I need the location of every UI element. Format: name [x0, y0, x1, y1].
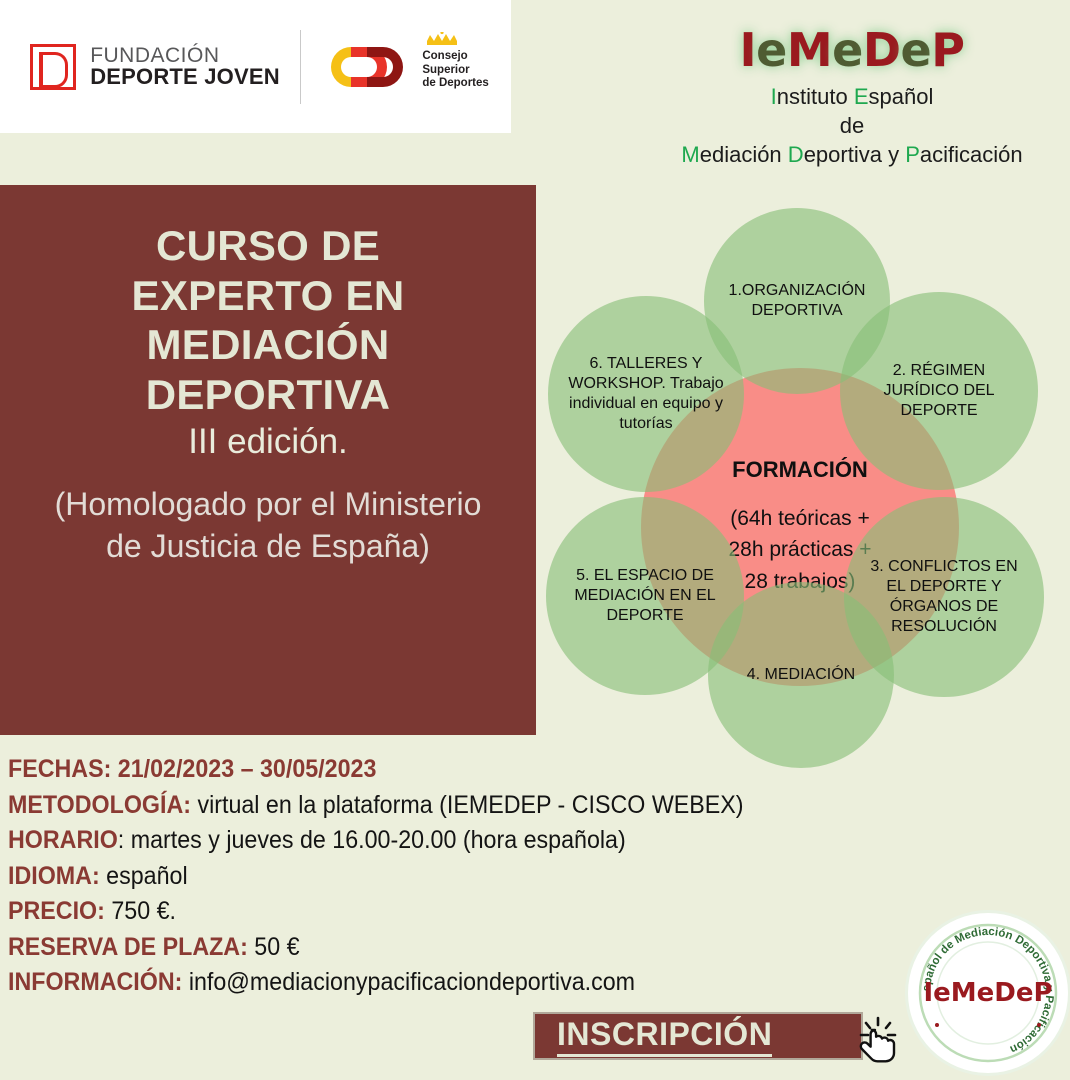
fundacion-deporte-joven-wordmark: FUNDACIÓN DEPORTE JOVEN: [90, 45, 280, 88]
iemedep-subtitle-line1: Instituto Español: [652, 82, 1052, 111]
course-title-panel: CURSO DE EXPERTO EN MEDIACIÓN DEPORTIVA …: [0, 185, 536, 735]
course-details-list: FECHAS: 21/02/2023 – 30/05/2023 METODOLO…: [8, 752, 908, 1001]
csd-line1: Consejo: [422, 50, 488, 64]
fundacion-deporte-joven-logo: FUNDACIÓN DEPORTE JOVEN: [30, 44, 280, 90]
detail-row-reserva: RESERVA DE PLAZA: 50 €: [8, 930, 845, 966]
detail-row-fechas: FECHAS: 21/02/2023 – 30/05/2023: [8, 752, 845, 788]
detail-label-horario: HORARIO: [8, 826, 118, 854]
detail-value-informacion: info@mediacionypacificaciondeportiva.com: [182, 968, 635, 996]
diagram-petal-5: 5. EL ESPACIO DE MEDIACIÓN EN EL DEPORTE: [546, 497, 744, 695]
detail-label-idioma: IDIOMA:: [8, 862, 100, 890]
detail-value-idioma: español: [100, 862, 188, 890]
inscripcion-button[interactable]: INSCRIPCIÓN: [533, 1012, 863, 1060]
wordmark-char-0: I: [740, 23, 757, 77]
diagram-petal-2: 2. RÉGIMEN JURÍDICO DEL DEPORTE: [840, 292, 1038, 490]
detail-value-precio: 750 €.: [105, 897, 176, 925]
course-edition: III edición.: [42, 421, 494, 463]
sub3-eportiva: eportiva y: [804, 142, 906, 167]
csd-swirl-icon: [321, 41, 413, 93]
title-line-1: CURSO DE: [42, 221, 494, 271]
iemedep-round-seal: Instituto Español de Mediación Deportiva…: [908, 913, 1068, 1073]
sub1-spanol: spañol: [869, 84, 934, 109]
sub3-ediacion: ediación: [700, 142, 788, 167]
petal-5-label: 5. EL ESPACIO DE MEDIACIÓN EN EL DEPORTE: [562, 566, 728, 626]
formacion-flower-diagram: FORMACIÓN (64h teóricas + 28h prácticas …: [536, 190, 1070, 770]
detail-row-horario: HORARIO: martes y jueves de 16.00-20.00 …: [8, 823, 845, 859]
petal-2-label: 2. RÉGIMEN JURÍDICO DEL DEPORTE: [858, 361, 1020, 421]
detail-value-fechas: 21/02/2023 – 30/05/2023: [111, 755, 376, 783]
title-line-4: DEPORTIVA: [42, 370, 494, 420]
sub1-nstituto: nstituto: [777, 84, 854, 109]
sub3-d: D: [788, 142, 804, 167]
detail-label-precio: PRECIO:: [8, 897, 105, 925]
page-title: CURSO DE EXPERTO EN MEDIACIÓN DEPORTIVA: [42, 221, 494, 419]
petal-4-label: 4. MEDIACIÓN: [722, 665, 880, 685]
crown-icon: [425, 32, 459, 48]
sub3-m: M: [681, 142, 699, 167]
petal-6-label: 6. TALLERES Y WORKSHOP. Trabajo individu…: [562, 354, 730, 435]
diagram-core-title: FORMACIÓN: [732, 457, 868, 483]
pointing-hand-click-icon: [851, 1016, 907, 1064]
detail-row-precio: PRECIO: 750 €.: [8, 894, 845, 930]
fundacion-line1: FUNDACIÓN: [90, 45, 280, 66]
wordmark-char-1: e: [756, 23, 787, 77]
iemedep-wordmark: IeMeDeP: [652, 26, 1052, 74]
wordmark-char-6: P: [931, 23, 964, 77]
wordmark-char-3: e: [832, 23, 863, 77]
course-accreditation-note: (Homologado por el Ministerio de Justici…: [42, 483, 494, 567]
csd-line3: de Deportes: [422, 77, 488, 91]
detail-row-idioma: IDIOMA: español: [8, 859, 845, 895]
detail-value-horario: : martes y jueves de 16.00-20.00 (hora e…: [118, 826, 626, 854]
detail-label-metodologia: METODOLOGÍA:: [8, 791, 191, 819]
sub3-p: P: [905, 142, 920, 167]
fundacion-line2: DEPORTE JOVEN: [90, 66, 280, 88]
detail-label-informacion: INFORMACIÓN:: [8, 968, 182, 996]
sponsor-logo-bar: FUNDACIÓN DEPORTE JOVEN Consejo Superior…: [0, 0, 511, 133]
wordmark-char-5: e: [901, 23, 932, 77]
iemedep-subtitle: Instituto Español de Mediación Deportiva…: [652, 82, 1052, 169]
iemedep-subtitle-line2: de: [652, 111, 1052, 140]
iemedep-subtitle-line3: Mediación Deportiva y Pacificación: [652, 140, 1052, 169]
csd-line2: Superior: [422, 64, 488, 78]
csd-wordmark: Consejo Superior de Deportes: [422, 42, 488, 91]
detail-value-reserva: 50 €: [248, 933, 300, 961]
sub1-e: E: [854, 84, 869, 109]
detail-row-informacion: INFORMACIÓN: info@mediacionypacificacion…: [8, 965, 845, 1001]
seal-center-wordmark: IeMeDeP: [923, 978, 1052, 1008]
wordmark-char-2: M: [787, 23, 832, 77]
title-line-3: MEDIACIÓN: [42, 320, 494, 370]
petal-1-label: 1.ORGANIZACIÓN DEPORTIVA: [718, 281, 876, 321]
detail-label-reserva: RESERVA DE PLAZA:: [8, 933, 248, 961]
diagram-petal-6: 6. TALLERES Y WORKSHOP. Trabajo individu…: [548, 296, 744, 492]
title-line-2: EXPERTO EN: [42, 271, 494, 321]
detail-label-fechas: FECHAS:: [8, 755, 111, 783]
consejo-superior-deportes-logo: Consejo Superior de Deportes: [321, 41, 488, 93]
detail-row-metodologia: METODOLOGÍA: virtual en la plataforma (I…: [8, 788, 845, 824]
inscripcion-cta[interactable]: INSCRIPCIÓN: [533, 1012, 863, 1060]
petal-3-label: 3. CONFLICTOS EN EL DEPORTE Y ÓRGANOS DE…: [862, 557, 1026, 638]
inscripcion-button-label: INSCRIPCIÓN: [557, 1016, 772, 1057]
wordmark-char-4: D: [863, 23, 901, 77]
fundacion-deporte-joven-mark-icon: [30, 44, 76, 90]
logo-divider: [300, 30, 302, 104]
iemedep-brand-header: IeMeDeP Instituto Español de Mediación D…: [652, 26, 1052, 169]
sub3-acificacion: acificación: [920, 142, 1023, 167]
detail-value-metodologia: virtual en la plataforma (IEMEDEP - CISC…: [191, 791, 744, 819]
